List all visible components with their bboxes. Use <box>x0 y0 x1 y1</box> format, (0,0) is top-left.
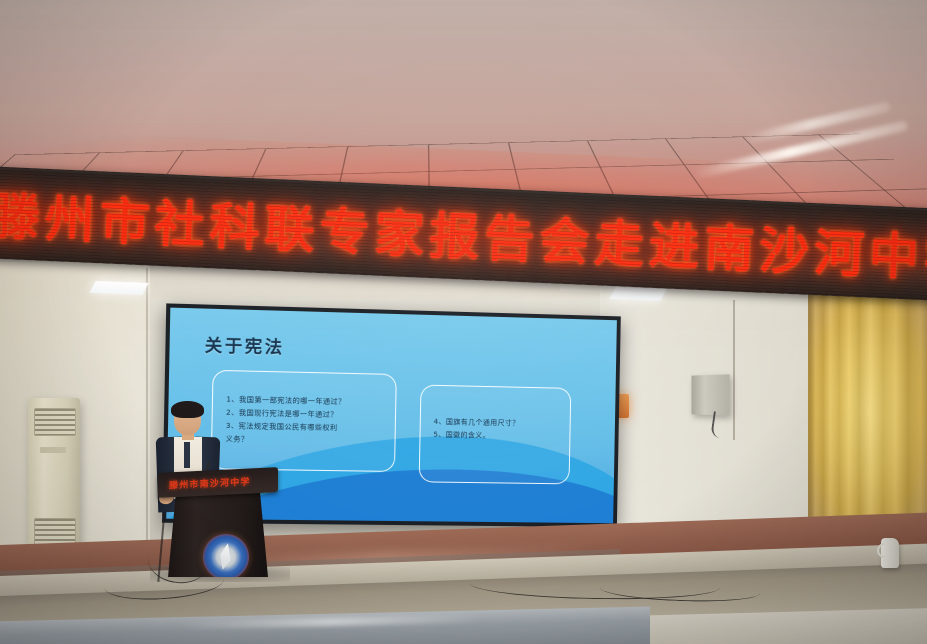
window-curtain <box>808 285 927 550</box>
ceiling-lamp-panel-right <box>609 287 666 301</box>
wall-corner-edge <box>146 268 148 568</box>
wall-mounted-speaker <box>692 374 730 415</box>
wall-conduit-left <box>733 300 735 440</box>
ac-louver-top <box>34 408 76 436</box>
ceiling-lamp-panel-left <box>89 281 148 295</box>
white-kettle <box>881 538 899 568</box>
presenter-tie <box>184 442 190 468</box>
slide-title: 关于宪法 <box>205 331 285 358</box>
slide-question-list-right: 4、国旗有几个通用尺寸？ 5、国徽的含义。 <box>433 415 563 443</box>
list-item: 5、国徽的含义。 <box>433 428 562 443</box>
ac-badge <box>40 447 66 453</box>
list-item: 义务？ <box>225 432 387 448</box>
slide-question-list-left: 1、我国第一部宪法的哪一年通过？ 2、我国现行宪法是哪一年通过？ 3、宪法规定我… <box>225 392 388 448</box>
auditorium-photo: 关于宪法 1、我国第一部宪法的哪一年通过？ 2、我国现行宪法是哪一年通过？ 3、… <box>0 0 927 644</box>
presenter-hair <box>171 401 204 418</box>
